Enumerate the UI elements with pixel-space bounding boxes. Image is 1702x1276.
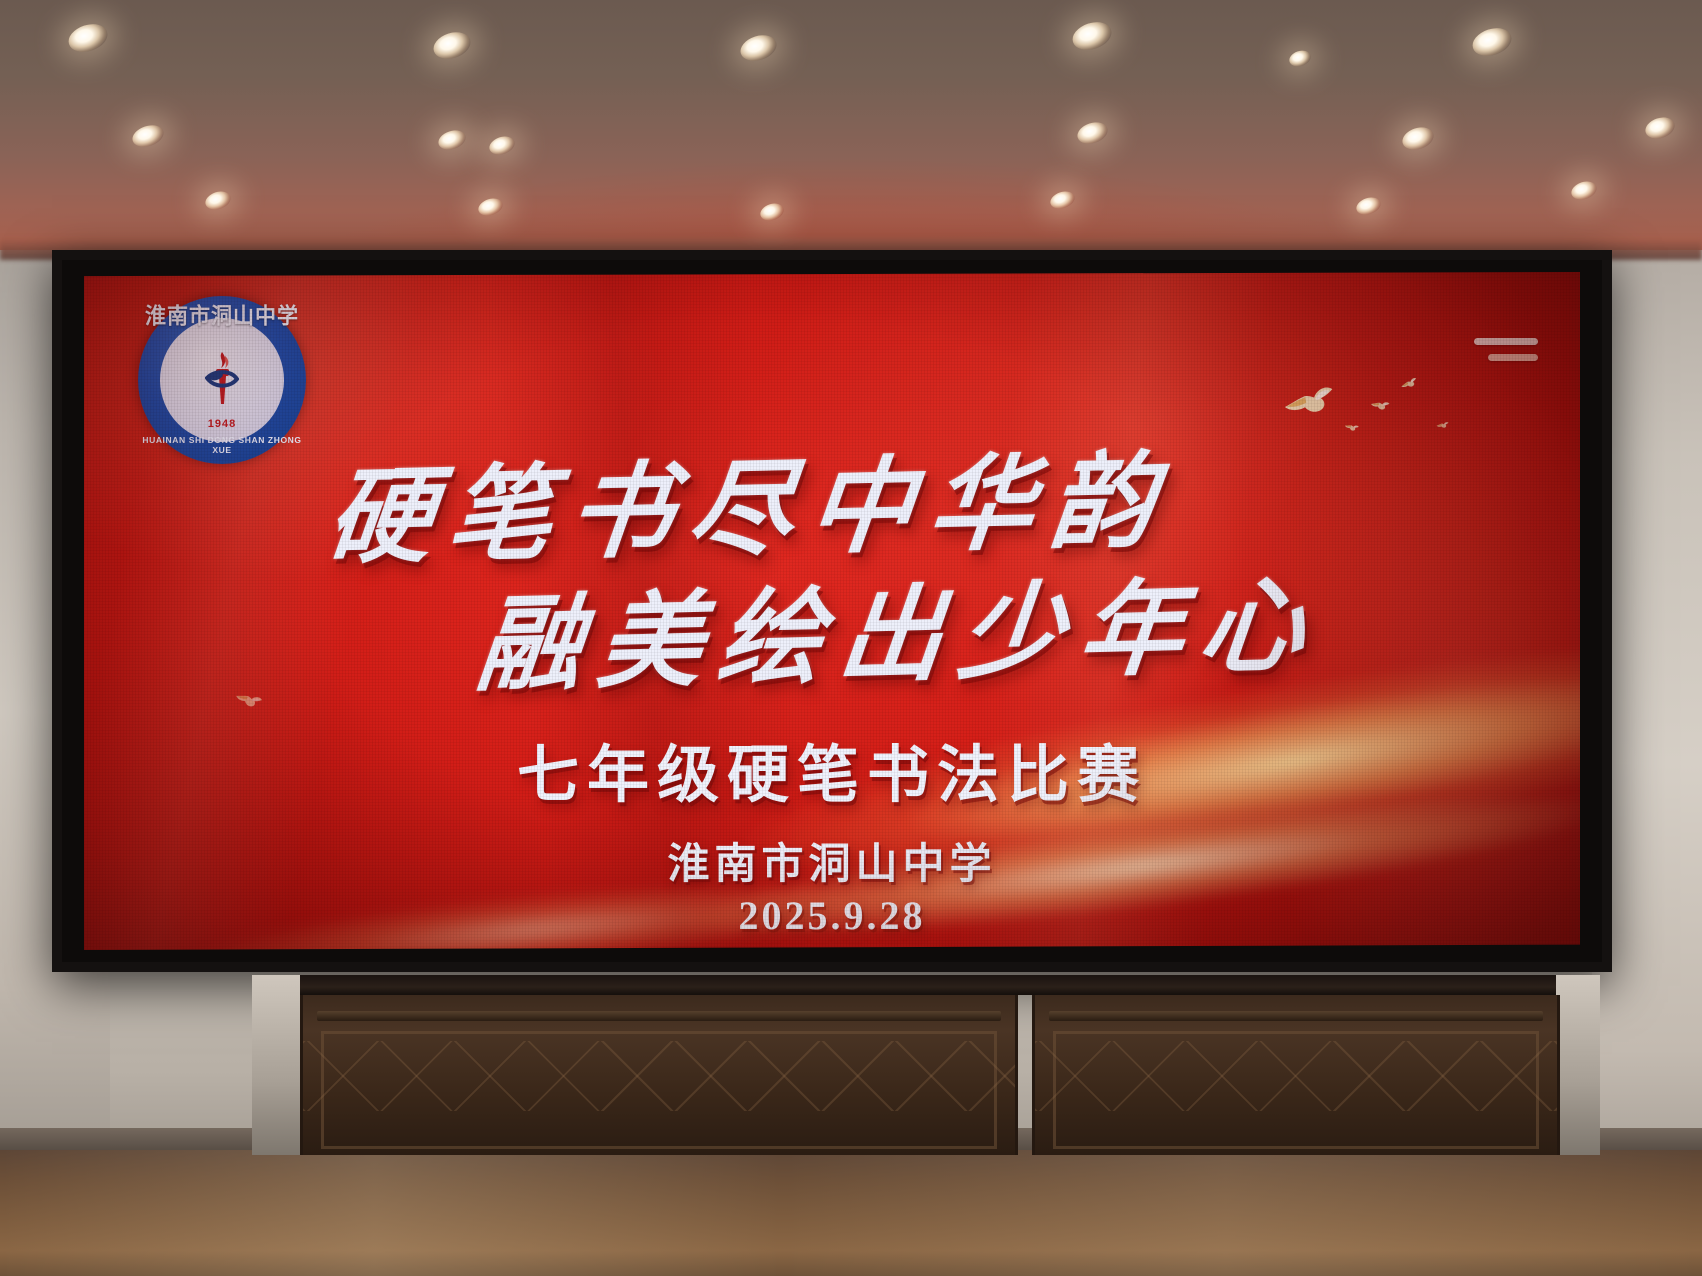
diamond-inlay-pattern (303, 1041, 1015, 1111)
wood-panel (1032, 995, 1560, 1155)
stage-pedestal-left (252, 975, 304, 1155)
led-screen-frame: 淮南市洞山中学 1948 HUAINAN SHI DONG SHAN ZHONG… (52, 250, 1612, 972)
panel-rail (1049, 1011, 1543, 1021)
stage-front-panels (300, 975, 1556, 1155)
panel-rail (317, 1011, 1001, 1021)
podium-top-rail (300, 975, 1556, 995)
ceiling (0, 0, 1702, 252)
floor-reflection (0, 1150, 1702, 1276)
auditorium-photo: 淮南市洞山中学 1948 HUAINAN SHI DONG SHAN ZHONG… (0, 0, 1702, 1276)
wood-panel (300, 995, 1018, 1155)
diamond-inlay-pattern (1035, 1041, 1557, 1111)
screen-vignette (84, 272, 1580, 950)
led-screen-display: 淮南市洞山中学 1948 HUAINAN SHI DONG SHAN ZHONG… (84, 272, 1580, 950)
